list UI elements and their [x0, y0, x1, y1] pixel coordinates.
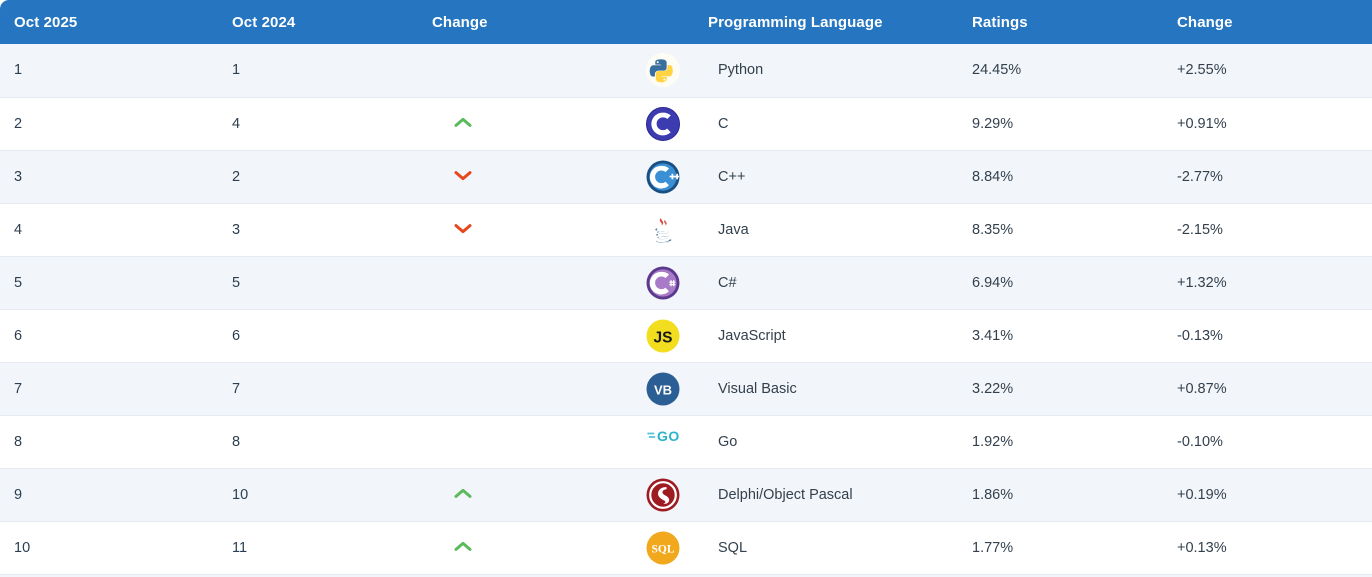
cell-language-icon	[642, 203, 708, 256]
cell-rank-previous: 6	[232, 309, 432, 362]
cell-trend-arrow	[432, 468, 642, 521]
csharp-icon	[646, 266, 680, 300]
cell-ratings: 3.22%	[972, 362, 1177, 415]
cplusplus-icon	[646, 160, 680, 194]
cell-rank-current: 7	[0, 362, 232, 415]
cell-language-icon: VB	[642, 362, 708, 415]
cell-ratings: 1.92%	[972, 415, 1177, 468]
go-icon: GO	[646, 425, 680, 459]
svg-text:VB: VB	[654, 382, 672, 397]
cell-rank-previous: 5	[232, 256, 432, 309]
javascript-icon: JS	[646, 319, 680, 353]
cell-change-value: +1.32%	[1177, 256, 1372, 309]
cell-language-icon: GO	[642, 415, 708, 468]
cell-language-name[interactable]: SQL	[708, 521, 972, 574]
cell-language-icon: SQL	[642, 521, 708, 574]
cell-language-icon	[642, 44, 708, 97]
cell-change-value: +2.55%	[1177, 44, 1372, 97]
cell-ratings: 9.29%	[972, 97, 1177, 150]
cell-rank-previous: 2	[232, 150, 432, 203]
cell-rank-previous: 4	[232, 97, 432, 150]
svg-text:SQL: SQL	[651, 543, 674, 555]
cell-ratings: 8.84%	[972, 150, 1177, 203]
cell-rank-current: 9	[0, 468, 232, 521]
arrow-up-icon	[454, 488, 472, 499]
cell-trend-arrow	[432, 362, 642, 415]
svg-text:GO: GO	[657, 428, 680, 444]
cell-ratings: 3.41%	[972, 309, 1177, 362]
table-row[interactable]: 3 2 C++ 8.84% -2.77%	[0, 150, 1372, 203]
cell-language-name[interactable]: JavaScript	[708, 309, 972, 362]
cell-language-name[interactable]: C++	[708, 150, 972, 203]
cell-language-icon	[642, 256, 708, 309]
cell-ratings: 6.94%	[972, 256, 1177, 309]
cell-ratings: 8.35%	[972, 203, 1177, 256]
cell-change-value: +0.87%	[1177, 362, 1372, 415]
visualbasic-icon: VB	[646, 372, 680, 406]
table-body: 1 1 Python 24.45% +2.55% 2 4 C	[0, 44, 1372, 574]
column-header-ratings[interactable]: Ratings	[972, 0, 1177, 44]
cell-language-name[interactable]: Visual Basic	[708, 362, 972, 415]
arrow-down-icon	[454, 223, 472, 234]
cell-language-icon: JS	[642, 309, 708, 362]
arrow-up-icon	[454, 541, 472, 552]
table-row[interactable]: 9 10 Delphi/Object Pascal 1.86% +0.19%	[0, 468, 1372, 521]
column-header-change-arrow[interactable]: Change	[432, 0, 642, 44]
cell-change-value: -0.10%	[1177, 415, 1372, 468]
column-header-change-value[interactable]: Change	[1177, 0, 1372, 44]
delphi-icon	[646, 478, 680, 512]
cell-rank-current: 1	[0, 44, 232, 97]
table-row[interactable]: 4 3 Java 8.35% -2.15%	[0, 203, 1372, 256]
cell-language-name[interactable]: Java	[708, 203, 972, 256]
cell-rank-previous: 1	[232, 44, 432, 97]
cell-rank-current: 10	[0, 521, 232, 574]
table-row[interactable]: 6 6 JS JavaScript 3.41% -0.13%	[0, 309, 1372, 362]
cell-language-icon	[642, 97, 708, 150]
sql-icon: SQL	[646, 531, 680, 565]
cell-trend-arrow	[432, 256, 642, 309]
cell-trend-arrow	[432, 203, 642, 256]
cell-rank-previous: 11	[232, 521, 432, 574]
cell-change-value: -0.13%	[1177, 309, 1372, 362]
arrow-down-icon	[454, 170, 472, 181]
cell-rank-current: 3	[0, 150, 232, 203]
column-header-rank-previous[interactable]: Oct 2024	[232, 0, 432, 44]
cell-trend-arrow	[432, 309, 642, 362]
cell-rank-current: 6	[0, 309, 232, 362]
column-header-rank-current[interactable]: Oct 2025	[0, 0, 232, 44]
table-row[interactable]: 7 7 VB Visual Basic 3.22% +0.87%	[0, 362, 1372, 415]
cell-change-value: -2.15%	[1177, 203, 1372, 256]
arrow-up-icon	[454, 117, 472, 128]
cell-trend-arrow	[432, 415, 642, 468]
cell-rank-previous: 3	[232, 203, 432, 256]
cell-language-name[interactable]: Delphi/Object Pascal	[708, 468, 972, 521]
column-header-icon	[642, 0, 708, 44]
cell-language-icon	[642, 468, 708, 521]
svg-text:JS: JS	[654, 329, 673, 346]
cell-trend-arrow	[432, 97, 642, 150]
cell-trend-arrow	[432, 521, 642, 574]
cell-rank-current: 8	[0, 415, 232, 468]
cell-language-name[interactable]: C	[708, 97, 972, 150]
c-icon	[646, 107, 680, 141]
cell-rank-previous: 7	[232, 362, 432, 415]
cell-ratings: 1.86%	[972, 468, 1177, 521]
cell-change-value: +0.19%	[1177, 468, 1372, 521]
table-row[interactable]: 5 5 C# 6.94% +1.32%	[0, 256, 1372, 309]
cell-language-name[interactable]: Python	[708, 44, 972, 97]
cell-change-value: +0.91%	[1177, 97, 1372, 150]
column-header-language[interactable]: Programming Language	[708, 0, 972, 44]
table-row[interactable]: 10 11 SQL SQL 1.77% +0.13%	[0, 521, 1372, 574]
cell-rank-current: 5	[0, 256, 232, 309]
cell-change-value: -2.77%	[1177, 150, 1372, 203]
tiobe-index-table: Oct 2025 Oct 2024 Change Programming Lan…	[0, 0, 1372, 575]
table-row[interactable]: 2 4 C 9.29% +0.91%	[0, 97, 1372, 150]
table-header: Oct 2025 Oct 2024 Change Programming Lan…	[0, 0, 1372, 44]
java-icon	[646, 213, 680, 247]
cell-language-icon	[642, 150, 708, 203]
cell-rank-previous: 8	[232, 415, 432, 468]
table-header-row: Oct 2025 Oct 2024 Change Programming Lan…	[0, 0, 1372, 44]
cell-rank-current: 2	[0, 97, 232, 150]
cell-change-value: +0.13%	[1177, 521, 1372, 574]
cell-ratings: 24.45%	[972, 44, 1177, 97]
cell-language-name[interactable]: C#	[708, 256, 972, 309]
cell-rank-current: 4	[0, 203, 232, 256]
table-row[interactable]: 1 1 Python 24.45% +2.55%	[0, 44, 1372, 97]
cell-ratings: 1.77%	[972, 521, 1177, 574]
python-icon	[646, 53, 680, 87]
cell-rank-previous: 10	[232, 468, 432, 521]
table-row[interactable]: 8 8 GO Go 1.92% -0.10%	[0, 415, 1372, 468]
cell-trend-arrow	[432, 44, 642, 97]
cell-language-name[interactable]: Go	[708, 415, 972, 468]
cell-trend-arrow	[432, 150, 642, 203]
tiobe-index-table-container: Oct 2025 Oct 2024 Change Programming Lan…	[0, 0, 1372, 577]
